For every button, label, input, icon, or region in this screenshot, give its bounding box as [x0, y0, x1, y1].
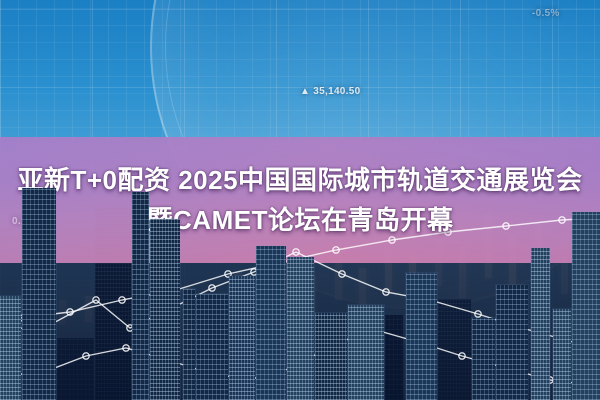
building-windows — [256, 246, 286, 400]
building-windows — [22, 188, 56, 400]
building-windows — [531, 248, 550, 400]
building — [315, 313, 347, 400]
building — [183, 289, 195, 400]
index-value-label: ▲ 35,140.50 — [300, 86, 360, 97]
building — [572, 212, 600, 400]
building-windows — [572, 212, 600, 400]
building — [150, 219, 180, 400]
building-windows — [132, 192, 149, 400]
building-windows — [406, 273, 437, 400]
building-windows — [229, 276, 255, 400]
building — [287, 257, 314, 400]
building — [132, 192, 149, 400]
building — [348, 305, 384, 400]
building — [229, 276, 255, 400]
building-windows — [472, 318, 495, 400]
building — [406, 273, 437, 400]
building-windows — [150, 219, 180, 400]
building — [553, 309, 571, 400]
building — [0, 296, 21, 400]
building — [496, 285, 528, 400]
banner-image: ▲ 35,140.50 0.15% -0.5% 亚新T+0配资 2025中国国际… — [0, 0, 600, 400]
headline: 亚新T+0配资 2025中国国际城市轨道交通展览会 暨CAMET论坛在青岛开幕 — [0, 160, 600, 240]
building-windows — [0, 296, 21, 400]
building-windows — [496, 285, 528, 400]
building — [196, 294, 228, 400]
building-windows — [348, 305, 384, 400]
building-windows — [287, 257, 314, 400]
headline-line-1: 亚新T+0配资 2025中国国际城市轨道交通展览会 — [0, 160, 600, 200]
building-windows — [183, 289, 195, 400]
building-windows — [553, 309, 571, 400]
building — [531, 248, 550, 400]
building — [472, 318, 495, 400]
building-windows — [196, 294, 228, 400]
building-windows — [315, 313, 347, 400]
building — [256, 246, 286, 400]
building — [22, 188, 56, 400]
percent-right-label: -0.5% — [532, 8, 560, 19]
headline-line-2: 暨CAMET论坛在青岛开幕 — [0, 200, 600, 240]
